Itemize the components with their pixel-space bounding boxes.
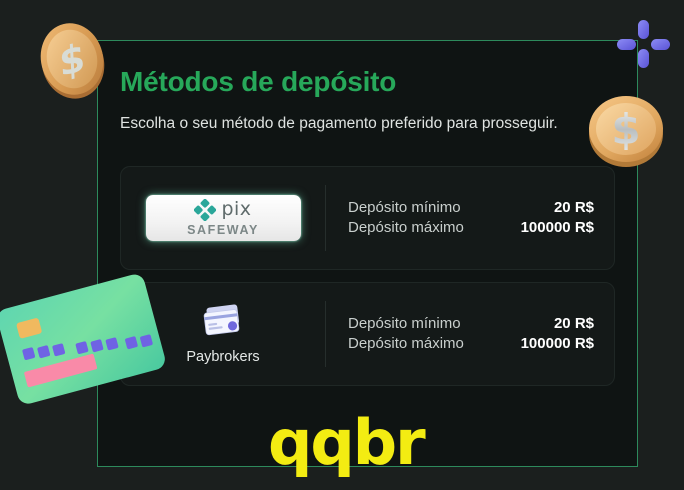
limit-label: Depósito máximo (348, 219, 464, 236)
limit-row-min: Depósito mínimo 20 R$ (348, 315, 594, 332)
credit-cards-stack-icon (200, 303, 246, 341)
pix-diamond-icon (194, 199, 216, 221)
limit-label: Depósito mínimo (348, 199, 461, 216)
payment-method-paybrokers[interactable]: Paybrokers Depósito mínimo 20 R$ Depósit… (120, 282, 615, 386)
page-subtitle: Escolha o seu método de pagamento prefer… (120, 112, 590, 136)
limit-value: 20 R$ (554, 199, 594, 216)
pix-logo-plate: pix SAFEWAY (146, 195, 301, 241)
pix-wordmark: pix (221, 200, 251, 219)
page-title: Métodos de depósito (120, 67, 615, 98)
limit-row-max: Depósito máximo 100000 R$ (348, 335, 594, 352)
paybrokers-label: Paybrokers (186, 349, 259, 365)
limit-label: Depósito mínimo (348, 315, 461, 332)
method-limits-paybrokers: Depósito mínimo 20 R$ Depósito máximo 10… (326, 312, 614, 355)
limit-label: Depósito máximo (348, 335, 464, 352)
limit-value: 100000 R$ (521, 219, 594, 236)
pix-safeway-label: SAFEWAY (187, 223, 259, 237)
method-brand-paybrokers: Paybrokers (121, 303, 325, 365)
limit-row-min: Depósito mínimo 20 R$ (348, 199, 594, 216)
watermark-qqbr: qqbr (268, 412, 424, 474)
payment-methods-list: pix SAFEWAY Depósito mínimo 20 R$ Depósi… (120, 166, 615, 386)
limit-row-max: Depósito máximo 100000 R$ (348, 219, 594, 236)
deposit-methods-panel: Métodos de depósito Escolha o seu método… (97, 40, 638, 467)
method-brand-pix: pix SAFEWAY (121, 195, 325, 241)
limit-value: 20 R$ (554, 315, 594, 332)
method-limits-pix: Depósito mínimo 20 R$ Depósito máximo 10… (326, 196, 614, 239)
limit-value: 100000 R$ (521, 335, 594, 352)
payment-method-pix-safeway[interactable]: pix SAFEWAY Depósito mínimo 20 R$ Depósi… (120, 166, 615, 270)
svg-text:$: $ (54, 35, 90, 84)
